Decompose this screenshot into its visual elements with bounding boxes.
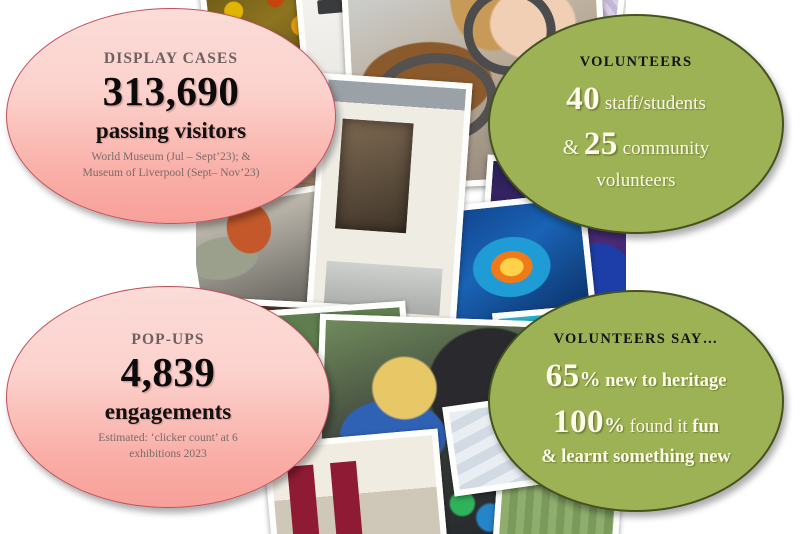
display-cases-note: World Museum (Jul – Sept’23); & Museum o… xyxy=(82,149,259,182)
volunteers-community-count: 25 xyxy=(584,126,618,162)
display-cases-unit: passing visitors xyxy=(96,114,246,147)
volunteers-community-label: community xyxy=(623,138,710,159)
display-cases-note-line-2: Museum of Liverpool (Sept– Nov’23) xyxy=(82,165,259,181)
display-cases-figure: 313,690 xyxy=(103,70,240,113)
stat-bubble-display-cases: DISPLAY CASES 313,690 passing visitors W… xyxy=(6,8,336,224)
pop-ups-title: POP-UPS xyxy=(131,331,204,349)
volunteers-staff-count: 40 xyxy=(566,81,600,117)
volunteers-title: VOLUNTEERS xyxy=(580,54,693,71)
volunteers-say-title: VOLUNTEERS SAY… xyxy=(554,331,719,348)
display-cases-note-line-1: World Museum (Jul – Sept’23); & xyxy=(82,149,259,165)
volunteers-row-2: & 25 community xyxy=(563,122,709,168)
volunteers-row-1: 40 staff/students xyxy=(566,77,706,123)
pop-ups-figure: 4,839 xyxy=(121,351,216,394)
volunteers-say-65-label: new to heritage xyxy=(605,371,726,391)
stat-bubble-volunteers-say: VOLUNTEERS SAY… 65% new to heritage 100%… xyxy=(488,290,784,512)
display-cases-title: DISPLAY CASES xyxy=(104,50,238,68)
volunteers-say-row-2: 100% found it fun xyxy=(553,400,719,446)
stat-bubble-pop-ups: POP-UPS 4,839 engagements Estimated: ‘cl… xyxy=(6,286,330,508)
volunteers-say-100-label-bold: fun xyxy=(692,417,719,437)
volunteers-say-row-3: & learnt something new xyxy=(541,445,731,471)
pop-ups-note: Estimated: ‘clicker count’ at 6 exhibiti… xyxy=(98,430,238,463)
volunteers-say-100-percent-sign: % xyxy=(604,413,625,437)
pop-ups-unit: engagements xyxy=(105,395,231,428)
volunteers-say-65-number: 65 xyxy=(546,358,580,394)
infographic-canvas: DISPLAY CASES 313,690 passing visitors W… xyxy=(0,0,800,534)
volunteers-say-row-3-label: & learnt something new xyxy=(541,447,731,467)
volunteers-row-3: volunteers xyxy=(596,168,675,194)
pop-ups-note-line-1: Estimated: ‘clicker count’ at 6 xyxy=(98,430,238,446)
volunteers-say-100-label-light: found it xyxy=(630,417,688,437)
pop-ups-note-line-2: exhibitions 2023 xyxy=(98,446,238,462)
volunteers-say-65-percent-sign: % xyxy=(580,367,601,391)
volunteers-ampersand: & xyxy=(563,135,579,159)
volunteers-say-row-1: 65% new to heritage xyxy=(546,354,727,400)
volunteers-staff-label: staff/students xyxy=(605,93,706,114)
stat-bubble-volunteers: VOLUNTEERS 40 staff/students & 25 commun… xyxy=(488,14,784,234)
volunteers-say-100-number: 100 xyxy=(553,404,604,440)
volunteers-row-3-label: volunteers xyxy=(596,170,675,191)
